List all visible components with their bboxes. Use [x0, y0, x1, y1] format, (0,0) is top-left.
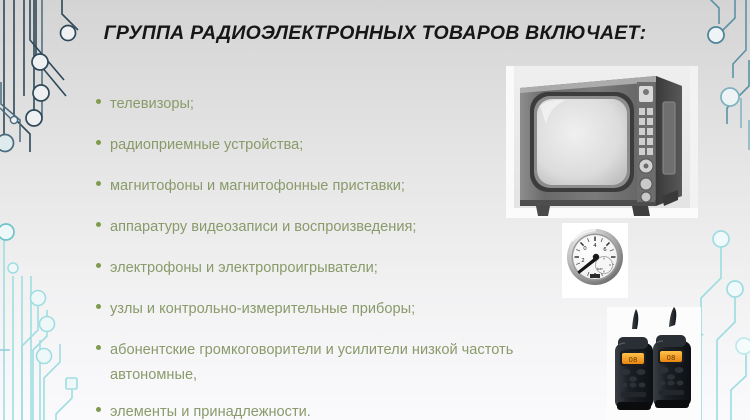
svg-text:6: 6	[603, 247, 607, 253]
bullet-dot-icon	[96, 304, 101, 309]
bullet-dot-icon	[96, 99, 101, 104]
slide-title: ГРУППА РАДИОЭЛЕКТРОННЫХ ТОВАРОВ ВКЛЮЧАЕТ…	[0, 22, 750, 45]
bullet-dot-icon	[96, 263, 101, 268]
bullet-dot-icon	[96, 222, 101, 227]
svg-text:08: 08	[667, 354, 676, 362]
bullet-dot-icon	[96, 140, 101, 145]
list-item-label: абонентские громкоговорители и усилители…	[110, 338, 513, 363]
svg-text:2: 2	[581, 258, 585, 264]
vintage-television-photo	[506, 66, 698, 218]
svg-text:bar: bar	[597, 267, 603, 271]
list-item: аппаратуру видеозаписи и воспроизведения…	[96, 215, 616, 240]
list-item: абонентские громкоговорители и усилители…	[96, 338, 616, 388]
list-item: электрофоны и электропроигрыватели;	[96, 256, 616, 281]
svg-text:4: 4	[593, 243, 597, 249]
list-item-continuation: автономные,	[96, 363, 616, 388]
bullet-dot-icon	[96, 407, 101, 412]
list-item-label: узлы и контрольно-измерительные приборы;	[110, 297, 415, 322]
list-item-label: аппаратуру видеозаписи и воспроизведения…	[110, 215, 416, 240]
pressure-gauge-photo: 4 6 8 2 0 bar	[562, 223, 628, 298]
walkie-talkie-pair-photo: 08	[607, 307, 701, 420]
bullet-dot-icon	[96, 345, 101, 350]
bullet-dot-icon	[96, 181, 101, 186]
list-item-label: радиоприемные устройства;	[110, 133, 303, 158]
list-item-label: электрофоны и электропроигрыватели;	[110, 256, 378, 281]
slide-canvas: ГРУППА РАДИОЭЛЕКТРОННЫХ ТОВАРОВ ВКЛЮЧАЕТ…	[0, 0, 750, 420]
svg-text:0: 0	[583, 246, 587, 252]
list-item: узлы и контрольно-измерительные приборы;	[96, 297, 616, 322]
svg-text:08: 08	[629, 356, 638, 364]
list-item-label: телевизоры;	[110, 92, 194, 117]
list-item-label: магнитофоны и магнитофонные приставки;	[110, 174, 405, 199]
list-item-label: элементы и принадлежности.	[110, 400, 311, 420]
list-item: элементы и принадлежности.	[96, 400, 616, 420]
